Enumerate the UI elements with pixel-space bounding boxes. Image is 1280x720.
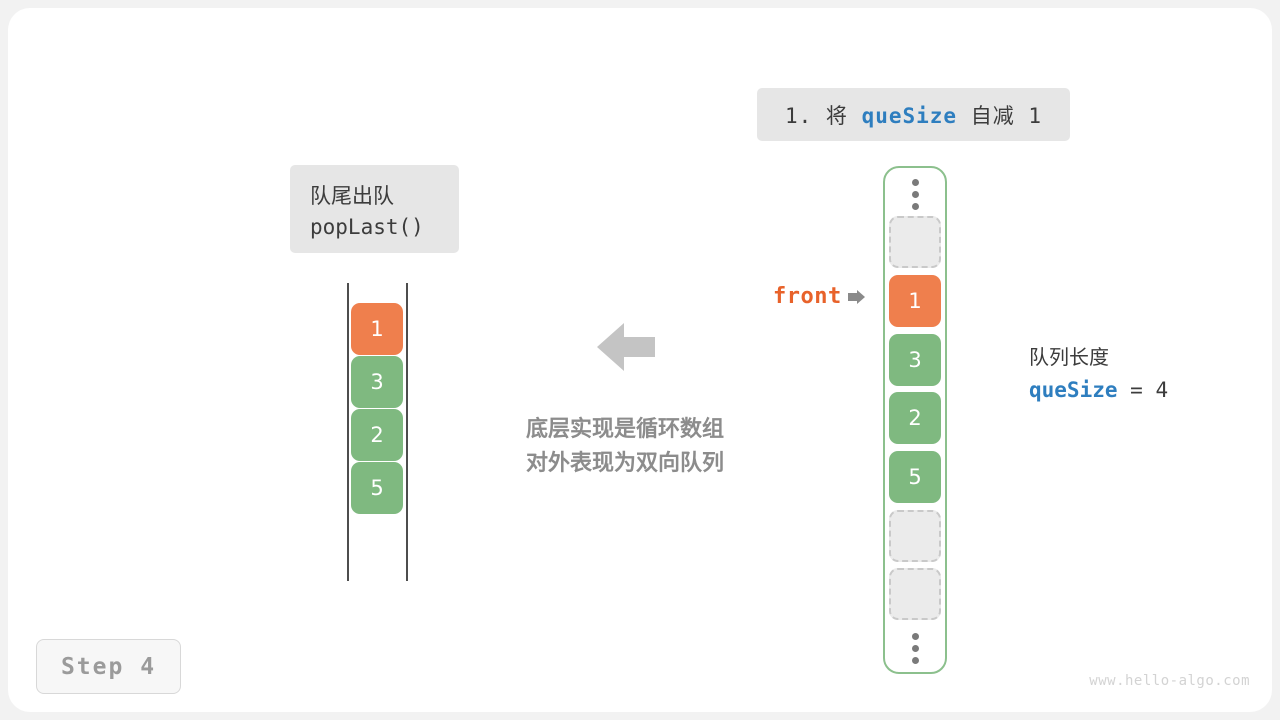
array-cell: 5 — [889, 451, 941, 503]
operation-method-signature: popLast() — [310, 215, 439, 239]
deque-rail-left — [347, 283, 349, 581]
deque-cell: 3 — [351, 356, 403, 408]
front-pointer: front — [773, 284, 865, 309]
deque-cell: 2 — [351, 409, 403, 461]
operation-name-cn: 队尾出队 — [310, 180, 439, 210]
circular-array-container: 1 3 2 5 — [883, 166, 947, 674]
implementation-note-line1: 底层实现是循环数组 — [503, 413, 747, 447]
diagram-canvas: 1. 将 queSize 自减 1 队尾出队 popLast() 1 3 2 5… — [0, 0, 1280, 720]
array-cell-empty — [889, 510, 941, 562]
array-cell: 3 — [889, 334, 941, 386]
queue-size-keyword: queSize — [1029, 378, 1118, 402]
queue-size-info: 队列长度 queSize = 4 — [1029, 341, 1168, 402]
deque-cell: 1 — [351, 303, 403, 355]
operation-label-box: 队尾出队 popLast() — [290, 165, 459, 253]
array-cell: 1 — [889, 275, 941, 327]
implementation-note-line2: 对外表现为双向队列 — [503, 447, 747, 481]
queue-size-equals: = 4 — [1118, 378, 1169, 402]
transition-arrow-left-icon — [597, 322, 655, 372]
queue-size-caption: 队列长度 — [1029, 341, 1168, 370]
array-cell-empty — [889, 568, 941, 620]
step-description-suffix: 自减 1 — [957, 104, 1042, 128]
step-description-box: 1. 将 queSize 自减 1 — [757, 88, 1070, 141]
array-ellipsis-bottom — [889, 624, 941, 672]
step-description-text: 1. 将 queSize 自减 1 — [785, 100, 1042, 130]
array-cell: 2 — [889, 392, 941, 444]
watermark: www.hello-algo.com — [1089, 673, 1250, 689]
array-ellipsis-top — [889, 170, 941, 218]
step-badge: Step 4 — [36, 639, 181, 694]
queue-size-value: queSize = 4 — [1029, 378, 1168, 402]
deque-rail-right — [406, 283, 408, 581]
array-cell-empty — [889, 216, 941, 268]
step-description-prefix: 1. 将 — [785, 104, 862, 128]
implementation-note: 底层实现是循环数组 对外表现为双向队列 — [503, 413, 747, 481]
deque-cell: 5 — [351, 462, 403, 514]
step-description-keyword: queSize — [862, 104, 958, 128]
front-pointer-label: front — [773, 284, 842, 309]
pointer-arrow-right-icon — [848, 290, 865, 304]
